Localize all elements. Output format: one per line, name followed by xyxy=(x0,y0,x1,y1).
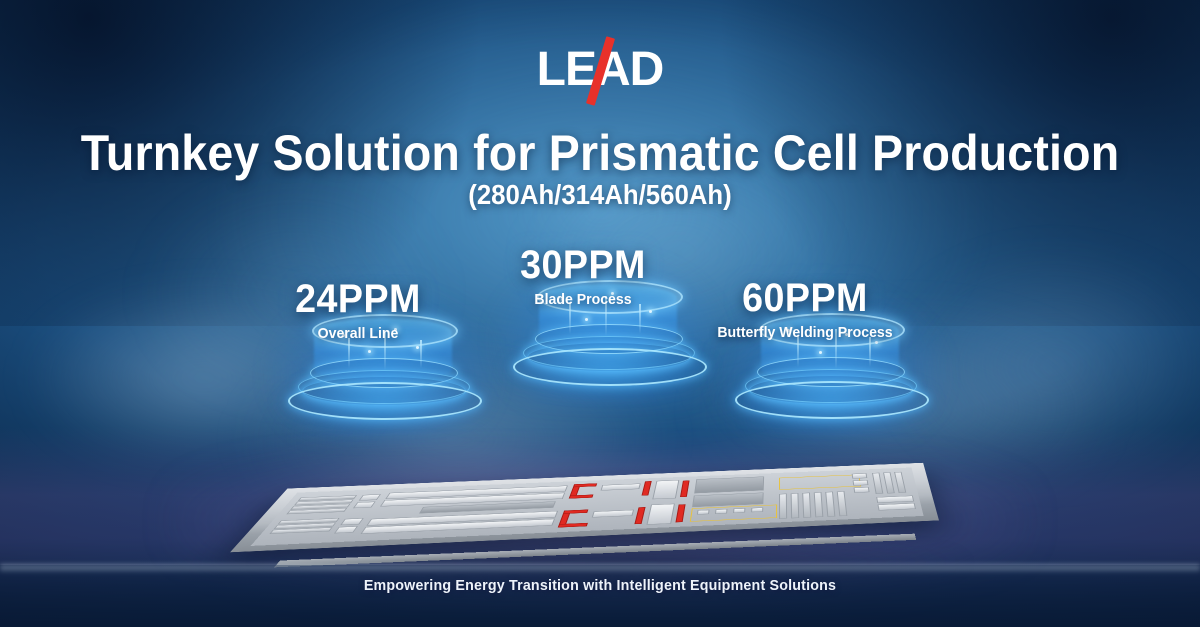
pedestal-ring xyxy=(735,381,929,419)
sparkle-icon xyxy=(416,346,419,349)
stat-value: 30PPM xyxy=(466,243,701,287)
stat-blade-process: 30PPM Blade Process xyxy=(458,243,708,308)
stat-label: Overall Line xyxy=(241,325,476,342)
sparkle-icon xyxy=(649,310,652,313)
page-subtitle: (280Ah/314Ah/560Ah) xyxy=(48,178,1152,212)
banner-canvas: LEAD Turnkey Solution for Prismatic Cell… xyxy=(0,0,1200,627)
sparkle-icon xyxy=(585,318,588,321)
stat-value: 24PPM xyxy=(241,277,476,321)
sparkle-icon xyxy=(368,350,371,353)
stat-label: Blade Process xyxy=(466,291,701,308)
stat-label: Butterfly Welding Process xyxy=(688,324,923,341)
page-title: Turnkey Solution for Prismatic Cell Prod… xyxy=(42,123,1158,183)
pedestal-ring xyxy=(288,382,482,420)
floor-bottom-shade xyxy=(0,565,1200,627)
lead-logo: LEAD xyxy=(500,44,700,100)
sparkle-icon xyxy=(819,351,822,354)
stat-butterfly-welding: 60PPM Butterfly Welding Process xyxy=(680,276,930,341)
production-line-render xyxy=(268,448,940,560)
light-beam xyxy=(869,337,871,367)
pedestal-ring xyxy=(513,348,707,386)
footer-tagline: Empowering Energy Transition with Intell… xyxy=(30,576,1170,596)
light-beam xyxy=(420,340,422,368)
light-beam xyxy=(348,338,350,368)
stat-overall-line: 24PPM Overall Line xyxy=(233,277,483,342)
light-beam xyxy=(639,304,641,334)
stat-value: 60PPM xyxy=(688,276,923,320)
sparkle-icon xyxy=(875,341,878,344)
